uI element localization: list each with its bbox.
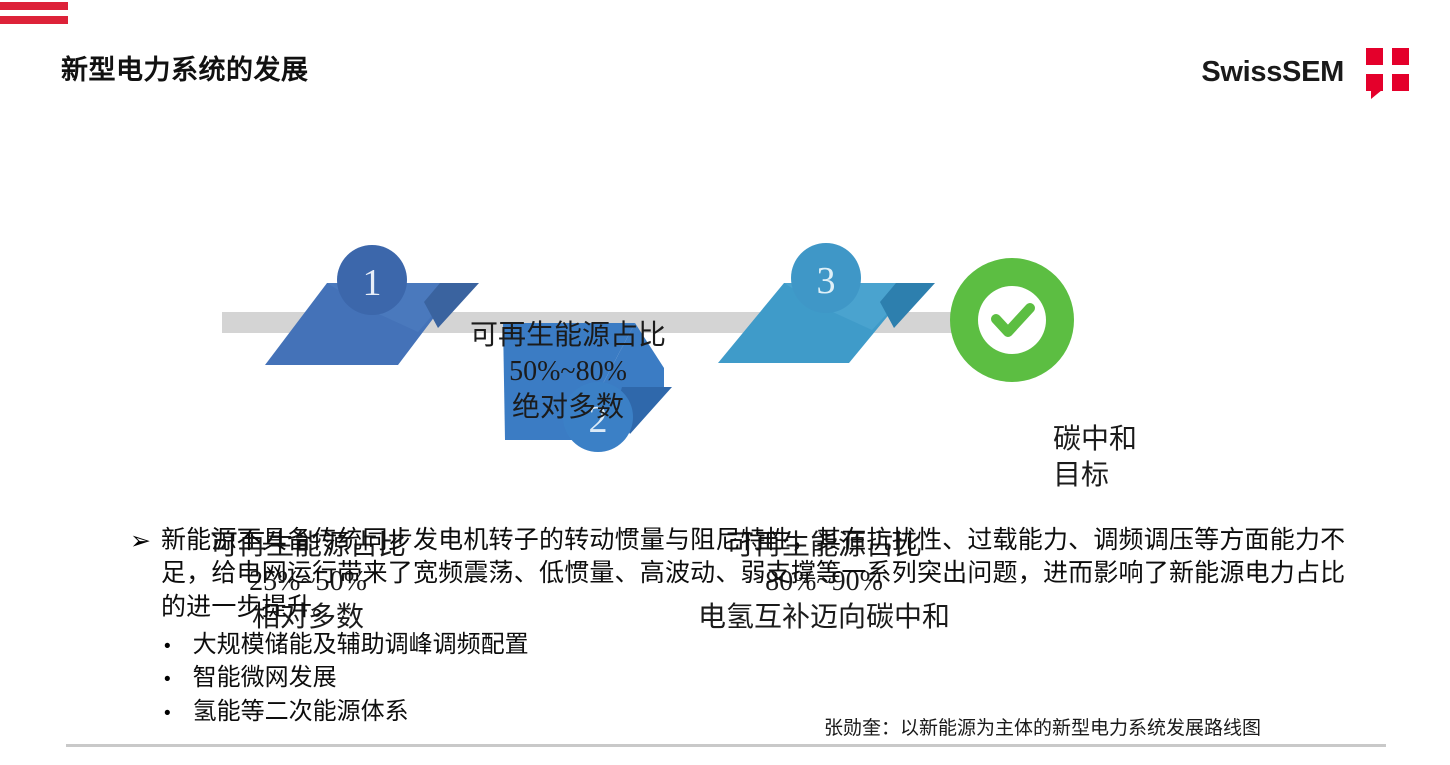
- logo-square-top-right: [1392, 48, 1409, 65]
- footer-divider: [66, 744, 1386, 747]
- brand-name: SwissSEM: [1201, 56, 1344, 89]
- logo-square-bottom-left: [1366, 74, 1383, 91]
- list-item: • 大规模储能及辅助调峰调频配置: [130, 628, 1360, 662]
- step-2-caption: 可再生能源占比 50%~80% 绝对多数: [470, 318, 666, 425]
- bullet-dot-icon: •: [164, 637, 171, 656]
- list-item-label: 智能微网发展: [193, 661, 337, 695]
- step-1-number: 1: [363, 262, 382, 304]
- body-content: ➢ 新能源不具备传统同步发电机转子的转动惯量与阻尼特性，其在抗扰性、过载能力、调…: [130, 524, 1360, 729]
- list-item-label: 大规模储能及辅助调峰调频配置: [193, 628, 529, 662]
- goal-label: 碳中和 目标: [1053, 422, 1137, 494]
- swisssem-mark-icon: [1366, 48, 1412, 96]
- lead-paragraph-row: ➢ 新能源不具备传统同步发电机转子的转动惯量与阻尼特性，其在抗扰性、过载能力、调…: [130, 524, 1360, 624]
- list-item: • 智能微网发展: [130, 661, 1360, 695]
- source-attribution: 张勋奎：以新能源为主体的新型电力系统发展路线图: [824, 713, 1261, 740]
- logo-comma-tail-icon: [1371, 90, 1382, 99]
- slide-canvas: 新型电力系统的发展 SwissSEM: [0, 0, 1450, 765]
- step-2-caption-line-1: 可再生能源占比: [470, 318, 666, 354]
- accent-bar-top: [0, 2, 68, 10]
- accent-bar-bottom: [0, 16, 68, 24]
- roadmap-graphic: 1 2 3: [0, 150, 1450, 510]
- list-item-label: 氢能等二次能源体系: [193, 695, 409, 729]
- goal-label-line-2: 目标: [1053, 458, 1137, 494]
- logo-square-bottom-right: [1392, 74, 1409, 91]
- bullet-dot-icon: •: [164, 704, 171, 723]
- brand-logo: SwissSEM: [1201, 48, 1412, 96]
- page-title: 新型电力系统的发展: [61, 48, 309, 87]
- arrow-bullet-icon: ➢: [130, 524, 151, 558]
- goal-check-inner: [978, 286, 1046, 354]
- logo-square-top-left: [1366, 48, 1383, 65]
- bullet-dot-icon: •: [164, 670, 171, 689]
- step-3-number: 3: [817, 260, 836, 302]
- step-2-caption-line-2: 50%~80%: [470, 354, 666, 390]
- step-2-caption-line-3: 绝对多数: [470, 390, 666, 426]
- lead-paragraph: 新能源不具备传统同步发电机转子的转动惯量与阻尼特性，其在抗扰性、过载能力、调频调…: [161, 524, 1360, 624]
- roadmap-diagram: 1 2 3 可再生能源占比 50%~80% 绝对多数 可再生能源占比 25%~5…: [0, 150, 1450, 510]
- goal-label-line-1: 碳中和: [1053, 422, 1137, 458]
